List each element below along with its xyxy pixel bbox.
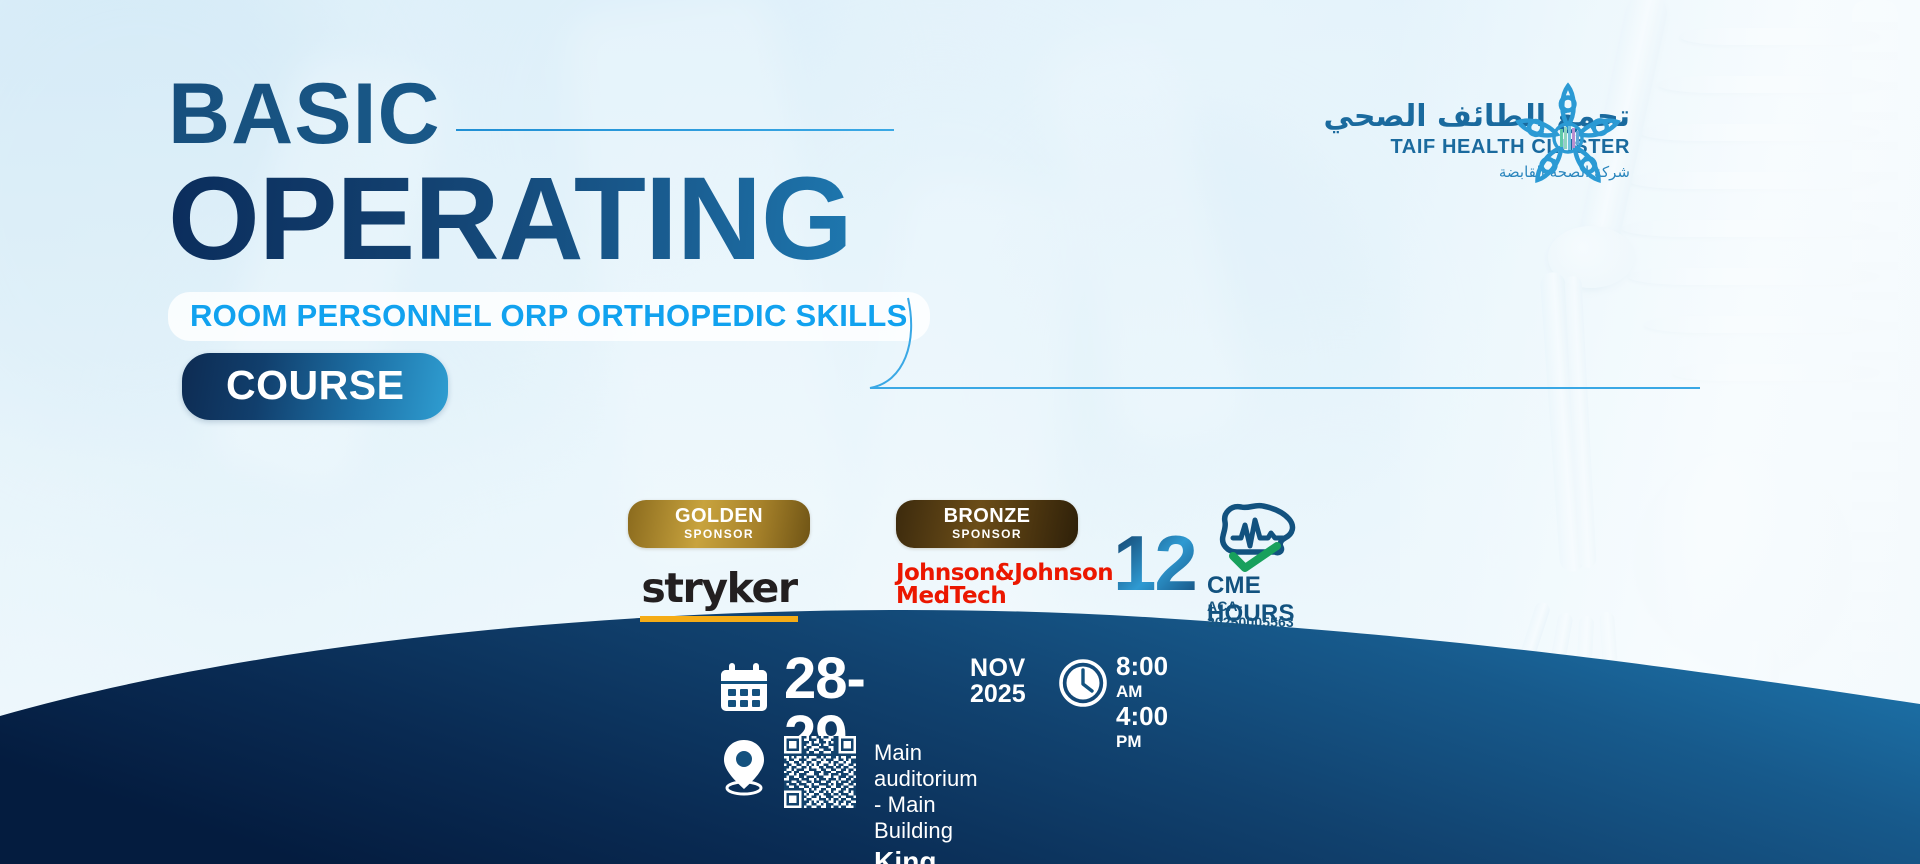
stryker-underline	[640, 616, 798, 622]
time-start: 8:00	[1116, 651, 1168, 681]
bronze-sponsor-pill: BRONZE SPONSOR	[896, 500, 1078, 548]
johnson-johnson-logo: Johnson&Johnson MedTech	[896, 562, 1111, 609]
clock-icon	[1058, 658, 1108, 708]
saudi-accreditation-icon	[1211, 498, 1303, 572]
golden-sponsor-tier: GOLDEN	[628, 506, 810, 527]
event-times: 8:00 AM 4:00 PM	[1116, 652, 1168, 753]
event-banner: BASIC OPERATING ROOM PERSONNEL ORP ORTHO…	[0, 0, 1920, 864]
sponsor-golden: GOLDEN SPONSOR stryker	[628, 500, 810, 622]
venue-text: Main auditorium - Main Building King Fai…	[874, 740, 985, 864]
headline-line-1: BASIC	[168, 72, 1068, 156]
subtitle-pill: ROOM PERSONNEL ORP ORTHOPEDIC SKILLS	[168, 292, 930, 341]
headline-line-2: OPERATING	[168, 160, 1068, 278]
taif-cluster-star-icon	[1514, 82, 1622, 198]
subtitle-text: ROOM PERSONNEL ORP ORTHOPEDIC SKILLS	[190, 298, 908, 333]
cme-accreditation-code: ACA-20250005563	[1207, 598, 1294, 630]
qr-code[interactable]	[784, 736, 856, 808]
calendar-icon	[718, 662, 770, 714]
course-badge-label: COURSE	[226, 362, 404, 408]
event-month: NOV	[970, 654, 1026, 682]
time-start-period: AM	[1116, 682, 1142, 701]
bronze-sponsor-word: SPONSOR	[896, 527, 1078, 541]
golden-sponsor-pill: GOLDEN SPONSOR	[628, 500, 810, 548]
location-pin-icon	[718, 738, 770, 796]
time-end: 4:00	[1116, 701, 1168, 731]
bronze-sponsor-tier: BRONZE	[896, 506, 1078, 527]
stryker-logo-text: stryker	[628, 564, 810, 612]
venue-line-2: King Faisal Hospital -Taif	[874, 846, 985, 864]
course-badge: COURSE	[182, 353, 448, 420]
headline-block: BASIC OPERATING ROOM PERSONNEL ORP ORTHO…	[168, 72, 1068, 420]
venue-line-1: Main auditorium - Main Building	[874, 740, 985, 844]
event-year: 2025	[970, 680, 1026, 709]
headline-rule	[456, 129, 894, 131]
jnj-line-2: MedTech	[896, 585, 1111, 608]
jnj-line-1: Johnson&Johnson	[896, 562, 1111, 585]
sponsor-bronze: BRONZE SPONSOR Johnson&Johnson MedTech	[896, 500, 1111, 609]
cme-hours-number: 12	[1113, 528, 1196, 598]
time-end-period: PM	[1116, 732, 1142, 751]
golden-sponsor-word: SPONSOR	[628, 527, 810, 541]
